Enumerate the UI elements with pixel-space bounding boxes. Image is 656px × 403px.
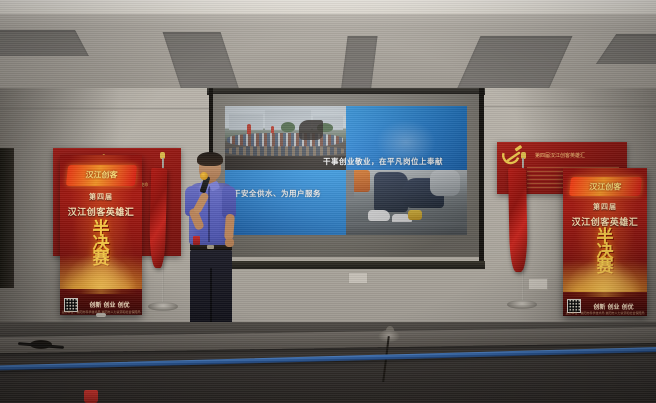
banner-logo-left: 汉江创客 <box>65 165 136 186</box>
ceiling-light-panel <box>163 32 240 90</box>
banner-line1-left: 第四届 <box>60 192 142 202</box>
banner-line2-left: 汉江创客英雄汇 <box>60 205 142 218</box>
banner-logo-right: 汉江创客 <box>569 177 642 196</box>
ceiling <box>0 0 656 92</box>
flag-cloth-right <box>508 168 528 272</box>
slide-text-line-2: 干安全供水、为用户服务 <box>233 188 321 199</box>
banner-subtext-right: 主办单位：襄阳市科学技术局 襄阳市人力资源和社会保障局 <box>563 311 647 315</box>
banner-footer-right: 创新 创业 创优 主办单位：襄阳市科学技术局 襄阳市人力资源和社会保障局 <box>563 297 647 316</box>
slide-text-line-1: 干事创业敬业，在平凡岗位上奉献 <box>323 156 443 167</box>
backdrop-right-gold-text: 第四届汉江创客英雄汇 <box>535 154 585 159</box>
photo-scene: 不忘初心 牢记使命 第四届汉江创客英雄汇 <box>0 0 656 403</box>
wall-outlet <box>528 278 548 290</box>
presenter-arm-right <box>224 214 235 241</box>
doorway-opening <box>0 148 14 288</box>
presenter-hand-right <box>225 238 234 247</box>
slide-quadrant-bottom-right <box>346 170 467 235</box>
banner-logo-text-left: 汉江创客 <box>66 169 136 180</box>
wall-outlet <box>348 272 368 284</box>
banner-line2-right: 汉江创客英雄汇 <box>563 215 647 228</box>
ceiling-lip <box>0 0 656 14</box>
projection-screen: 干事创业敬业，在平凡岗位上奉献 干安全供水、为用户服务 <box>213 88 479 263</box>
ceiling-light-panel <box>456 36 573 92</box>
flag-stand-base-left <box>148 302 178 311</box>
flag-stand-base-right <box>507 300 537 309</box>
presenter-belt-buckle <box>207 245 214 249</box>
communist-party-emblem-icon <box>502 145 523 163</box>
banner-slogan-left: 创新 创业 创优 <box>81 300 138 309</box>
screen-right-rail <box>479 88 484 263</box>
banner-flame-graphic-right <box>563 254 647 292</box>
rollup-banner-right: 汉江创客 第四届 汉江创客英雄汇 半 决 赛 创新 创业 创优 主办单位：襄阳市… <box>563 168 647 316</box>
presenter-leg-split <box>210 268 212 328</box>
banner-slogan-right: 创新 创业 创优 <box>584 302 643 311</box>
banner-logo-text-right: 汉江创客 <box>569 181 641 192</box>
ceiling-light-panel <box>340 36 377 94</box>
banner-stand-left <box>96 313 106 317</box>
slide-content: 干事创业敬业，在平凡岗位上奉献 干安全供水、为用户服务 <box>225 106 467 235</box>
photo-worker <box>346 170 467 235</box>
presenter-badge <box>193 236 200 245</box>
ceiling-light-panel <box>0 30 89 56</box>
wall-seam <box>480 106 656 107</box>
screen-bottom-bar <box>207 261 485 269</box>
banner-flame-graphic-left <box>60 248 142 290</box>
banner-footer-left: 创新 创业 创优 主办单位：襄阳市科学技术局 襄阳市人力资源和社会保障局 <box>60 294 142 315</box>
ceiling-light-panel <box>596 34 656 64</box>
banner-line1-right: 第四届 <box>563 202 647 212</box>
rollup-banner-left: 汉江创客 第四届 汉江创客英雄汇 半 决 赛 创新 创业 创优 主办单位：襄阳市… <box>60 155 142 315</box>
presenter-hair <box>197 152 223 166</box>
wall-seam <box>0 108 210 109</box>
red-cup <box>84 390 98 403</box>
presenter <box>176 150 246 345</box>
